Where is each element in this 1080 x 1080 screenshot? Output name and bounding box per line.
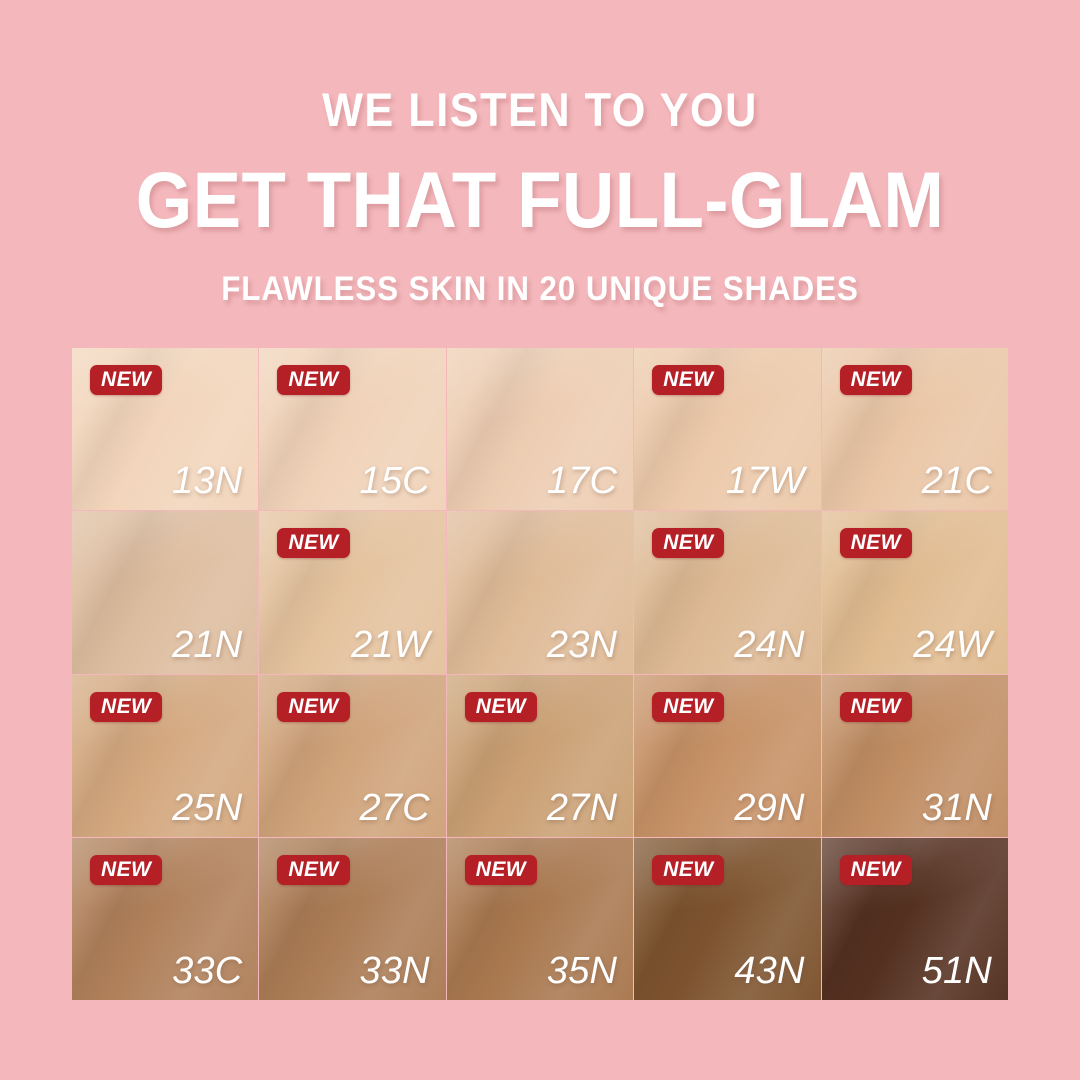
new-badge: NEW [652,855,724,885]
shade-code-label: 33N [360,952,430,990]
shade-code-label: 27C [360,789,430,827]
shade-code-label: 23N [547,626,617,664]
shade-swatch-51n[interactable]: NEW51N [822,838,1008,1000]
shade-swatch-21n[interactable]: 21N [72,511,258,673]
shade-code-label: 15C [360,462,430,500]
shade-swatch-17c[interactable]: 17C [447,348,633,510]
new-badge: NEW [465,692,537,722]
shade-code-label: 33C [172,952,242,990]
new-badge: NEW [90,692,162,722]
shade-code-label: 51N [922,952,992,990]
new-badge: NEW [90,855,162,885]
shade-code-label: 31N [922,789,992,827]
shade-code-label: 21N [172,626,242,664]
headline-eyebrow: WE LISTEN TO YOU [43,86,1037,133]
shade-swatch-33n[interactable]: NEW33N [259,838,445,1000]
shade-swatch-23n[interactable]: 23N [447,511,633,673]
new-badge: NEW [652,528,724,558]
shade-swatch-29n[interactable]: NEW29N [634,675,820,837]
shade-swatch-15c[interactable]: NEW15C [259,348,445,510]
shade-code-label: 43N [734,952,804,990]
shade-code-label: 17W [726,462,805,500]
shade-swatch-21w[interactable]: NEW21W [259,511,445,673]
shade-swatch-25n[interactable]: NEW25N [72,675,258,837]
shade-swatch-17w[interactable]: NEW17W [634,348,820,510]
new-badge: NEW [840,692,912,722]
headline-subtitle: FLAWLESS SKIN IN 20 UNIQUE SHADES [43,272,1037,306]
shade-swatch-31n[interactable]: NEW31N [822,675,1008,837]
new-badge: NEW [652,365,724,395]
new-badge: NEW [277,528,349,558]
new-badge: NEW [277,692,349,722]
headline-block: WE LISTEN TO YOU GET THAT FULL-GLAM FLAW… [0,0,1080,306]
shade-code-label: 25N [172,789,242,827]
new-badge: NEW [277,855,349,885]
shade-swatch-43n[interactable]: NEW43N [634,838,820,1000]
shade-code-label: 29N [734,789,804,827]
shade-swatch-27n[interactable]: NEW27N [447,675,633,837]
shade-swatch-13n[interactable]: NEW13N [72,348,258,510]
shade-swatch-33c[interactable]: NEW33C [72,838,258,1000]
new-badge: NEW [652,692,724,722]
shade-code-label: 21W [351,626,430,664]
shade-swatch-24n[interactable]: NEW24N [634,511,820,673]
headline-main: GET THAT FULL-GLAM [43,160,1037,239]
shade-code-label: 24N [734,626,804,664]
new-badge: NEW [840,855,912,885]
new-badge: NEW [840,528,912,558]
shade-swatch-21c[interactable]: NEW21C [822,348,1008,510]
shade-code-label: 24W [913,626,992,664]
shade-swatch-24w[interactable]: NEW24W [822,511,1008,673]
shade-code-label: 17C [547,462,617,500]
shade-grid: NEW13NNEW15C17CNEW17WNEW21C21NNEW21W23NN… [72,348,1008,1000]
shade-code-label: 35N [547,952,617,990]
shade-swatch-27c[interactable]: NEW27C [259,675,445,837]
new-badge: NEW [840,365,912,395]
shade-code-label: 27N [547,789,617,827]
new-badge: NEW [90,365,162,395]
new-badge: NEW [465,855,537,885]
shade-code-label: 13N [172,462,242,500]
shade-code-label: 21C [922,462,992,500]
new-badge: NEW [277,365,349,395]
shade-swatch-35n[interactable]: NEW35N [447,838,633,1000]
